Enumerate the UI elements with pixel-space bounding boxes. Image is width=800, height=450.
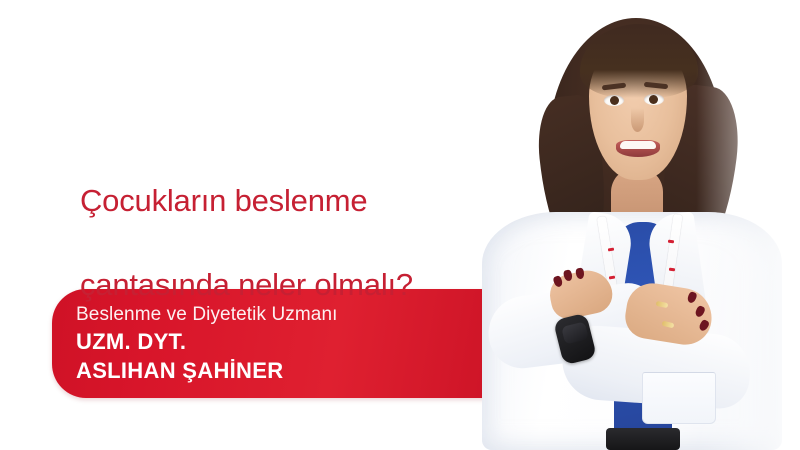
lanyard-print-4 (669, 268, 675, 272)
teeth (620, 141, 656, 149)
page-title: Çocukların beslenme çantasında neler olm… (80, 138, 480, 348)
pupil-left (610, 96, 619, 105)
coat-pocket (642, 372, 716, 424)
pupil-right (649, 95, 658, 104)
headline-line-2: çantasında neler olmalı? (80, 264, 480, 306)
presenter-photo (430, 0, 800, 450)
headline-line-1: Çocukların beslenme (80, 180, 480, 222)
promo-banner: Çocukların beslenme çantasında neler olm… (0, 0, 800, 450)
waistband (606, 428, 680, 450)
lanyard-print-3 (668, 240, 674, 244)
nose (631, 108, 644, 132)
